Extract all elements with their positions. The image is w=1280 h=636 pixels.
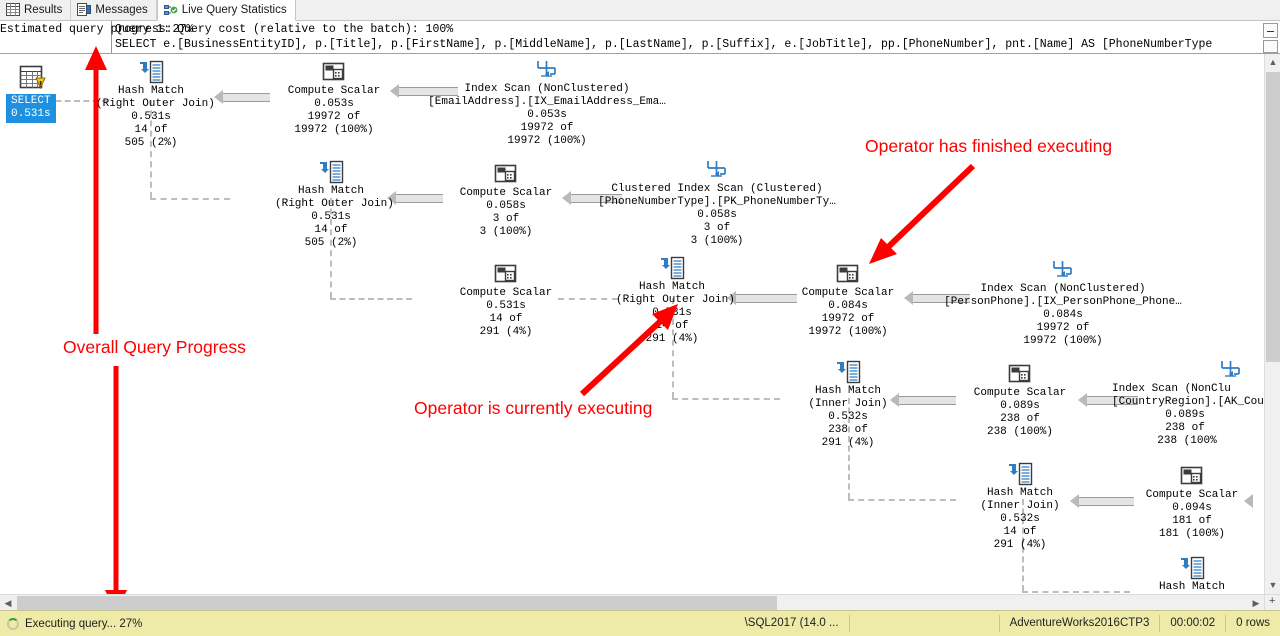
index-scan-icon [1218,358,1244,382]
status-server: \SQL2017 (14.0 ... [735,615,849,632]
compute-scalar-icon [1179,464,1205,488]
canvas-horizontal-scrollbar[interactable]: ◀ ▶ [0,594,1264,610]
plan-node-index-scan-countryregion-lines: Index Scan (NonClu [CountryRegion].[AK_C… [1112,383,1264,448]
node-line: Compute Scalar [450,187,562,200]
annotation-overall-query-progress: Overall Query Progress [63,337,246,358]
tab-results[interactable]: Results [0,0,71,20]
hash-match-icon [659,256,685,280]
node-line: [EmailAddress].[IX_EmailAddress_Ema… [424,96,670,109]
hash-match-icon [138,60,164,84]
query-sql-line: SELECT e.[BusinessEntityID], p.[Title], … [115,37,1262,52]
node-line: 238 (100% [1112,435,1262,448]
scroll-left-icon[interactable]: ◀ [0,595,16,611]
annotation-operator-executing: Operator is currently executing [414,398,652,419]
node-line: 0.053s [278,98,390,111]
status-executing-text: Executing query... 27% [25,618,142,630]
plan-node-hash-match-2[interactable]: Hash Match (Right Outer Join) 0.531s 14 … [275,160,387,250]
plan-node-compute-scalar-4[interactable]: Compute Scalar 0.084s 19972 of 19972 (10… [792,262,904,339]
vertical-scroll-thumb[interactable] [1266,72,1280,362]
node-line: 238 (100%) [964,426,1076,439]
node-line: Hash Match [275,185,387,198]
node-line: Compute Scalar [450,287,562,300]
connector-dashed [1022,591,1130,593]
canvas-vertical-scrollbar[interactable]: ▲ ▼ [1264,54,1280,594]
header-collapse-button[interactable] [1263,23,1278,38]
connector-arrowhead [562,191,571,205]
node-line: 181 (100%) [1136,528,1248,541]
node-line: Index Scan (NonClustered) [938,283,1188,296]
plan-node-hash-match-6-lines: Hash Match [1136,581,1248,594]
plan-node-compute-scalar-1-lines: Compute Scalar 0.053s 19972 of 19972 (10… [278,85,390,137]
executing-spinner-icon [7,618,19,630]
node-line: 19972 (100%) [792,326,904,339]
node-line: Compute Scalar [1136,489,1248,502]
node-line: Hash Match [1136,581,1248,594]
connector-dashed [150,198,230,200]
connector-arrowhead [390,84,399,98]
plan-node-index-scan-email[interactable]: Index Scan (NonClustered) [EmailAddress]… [424,58,670,148]
node-line: 19972 of [792,313,904,326]
node-line: Compute Scalar [964,387,1076,400]
node-line: Compute Scalar [278,85,390,98]
status-executing-group: Executing query... 27% [0,618,142,630]
plan-node-index-scan-personphone-lines: Index Scan (NonClustered) [PersonPhone].… [938,283,1188,348]
index-scan-icon [1050,258,1076,282]
select-node-box[interactable]: SELECT 0.531s [6,94,56,123]
plan-node-clustered-index-scan-phonenumbertype[interactable]: Clustered Index Scan (Clustered) [PhoneN… [594,158,840,248]
node-line: 3 (100%) [594,235,840,248]
select-result-icon [14,64,48,94]
node-line: 3 of [450,213,562,226]
results-tabstrip: Results Messages Live Query St [0,0,1280,21]
connector-arrowhead [214,90,223,104]
tab-messages-label: Messages [95,4,147,16]
node-line: 291 (4%) [792,437,904,450]
node-line: 3 (100%) [450,226,562,239]
connector-solid [735,294,797,303]
plan-node-hash-match-6[interactable]: Hash Match [1136,556,1248,594]
node-line: [CountryRegion].[AK_Cou [1112,396,1264,409]
plan-node-clustered-index-scan-lines: Clustered Index Scan (Clustered) [PhoneN… [594,183,840,248]
index-scan-icon [704,158,730,182]
plan-node-compute-scalar-5[interactable]: Compute Scalar 0.089s 238 of 238 (100%) [964,362,1076,439]
node-line: 238 of [1112,422,1258,435]
plan-node-compute-scalar-5-lines: Compute Scalar 0.089s 238 of 238 (100%) [964,387,1076,439]
annotation-arrow-finished [855,158,985,268]
status-row-count: 0 rows [1225,615,1280,632]
select-node-cost: 0.531s [11,108,51,121]
annotation-arrow-progress-up [80,44,120,334]
plan-node-hash-match-4[interactable]: Hash Match (Inner Join) 0.532s 238 of 29… [792,360,904,450]
node-line: Index Scan (NonClu [1112,383,1264,396]
plan-node-index-scan-email-lines: Index Scan (NonClustered) [EmailAddress]… [424,83,670,148]
plan-node-hash-match-5[interactable]: Hash Match (Inner Join) 0.532s 14 of 291… [964,462,1076,552]
node-line: (Right Outer Join) [275,198,387,211]
plan-node-compute-scalar-2-lines: Compute Scalar 0.058s 3 of 3 (100%) [450,187,562,239]
connector-arrowhead [904,291,913,305]
annotation-operator-finished: Operator has finished executing [865,136,1112,157]
tab-live-query-statistics-label: Live Query Statistics [182,4,287,16]
connector-arrowhead [1078,393,1087,407]
node-line: 0.058s [594,209,840,222]
scrollbar-corner-button[interactable] [1264,594,1280,610]
plan-node-hash-match-2-lines: Hash Match (Right Outer Join) 0.531s 14 … [275,185,387,250]
node-line: [PersonPhone].[IX_PersonPhone_Phone… [938,296,1188,309]
index-scan-icon [534,58,560,82]
scroll-right-icon[interactable]: ▶ [1248,595,1264,611]
hash-match-icon [835,360,861,384]
plan-node-compute-scalar-3-lines: Compute Scalar 0.531s 14 of 291 (4%) [450,287,562,339]
node-line: 0.053s [424,109,670,122]
node-line: Hash Match [964,487,1076,500]
plan-node-compute-scalar-4-lines: Compute Scalar 0.084s 19972 of 19972 (10… [792,287,904,339]
query-cost-and-sql: Query 1: Query cost (relative to the bat… [115,21,1262,53]
node-line: 181 of [1136,515,1248,528]
plan-node-hash-match-4-lines: Hash Match (Inner Join) 0.532s 238 of 29… [792,385,904,450]
node-line: 505 (2%) [275,237,387,250]
query-plan-header: Estimated query progress:27% Query 1: Qu… [0,21,1280,54]
node-line: Compute Scalar [792,287,904,300]
node-line: 14 of [450,313,562,326]
node-line: Hash Match [792,385,904,398]
status-bar: Executing query... 27% \SQL2017 (14.0 ..… [0,610,1280,636]
node-line: 19972 of [424,122,670,135]
query-cost-line: Query 1: Query cost (relative to the bat… [115,22,1262,37]
annotation-arrow-progress-down [100,366,140,616]
header-scroll-button[interactable] [1263,40,1278,53]
plan-node-compute-scalar-6[interactable]: Compute Scalar 0.094s 181 of 181 (100%) [1136,464,1248,541]
node-line: 19972 (100%) [424,135,670,148]
connector-dashed [330,298,412,300]
node-line: 0.084s [938,309,1188,322]
node-line: 238 of [792,424,904,437]
node-line: 238 of [964,413,1076,426]
node-line: 0.089s [964,400,1076,413]
connector-solid [1078,497,1134,506]
compute-scalar-icon [1007,362,1033,386]
connector-dashed [848,499,956,501]
plan-node-compute-scalar-1[interactable]: Compute Scalar 0.053s 19972 of 19972 (10… [278,60,390,137]
node-line: 0.094s [1136,502,1248,515]
status-elapsed-time: 00:00:02 [1159,615,1225,632]
node-line: Index Scan (NonClustered) [424,83,670,96]
node-line: 0.531s [275,211,387,224]
tab-live-query-statistics[interactable]: Live Query Statistics [157,0,296,21]
node-line: (Inner Join) [792,398,904,411]
plan-node-index-scan-personphone[interactable]: Index Scan (NonClustered) [PersonPhone].… [938,258,1188,348]
message-page-icon [77,3,91,16]
node-line: 0.089s [1112,409,1258,422]
hash-match-icon [318,160,344,184]
node-line: 19972 of [278,111,390,124]
grid-icon [6,3,20,16]
scroll-up-icon[interactable]: ▲ [1265,54,1280,71]
connector-solid [395,194,443,203]
annotation-arrow-executing [560,300,690,400]
plan-node-compute-scalar-6-lines: Compute Scalar 0.094s 181 of 181 (100%) [1136,489,1248,541]
node-line: 19972 (100%) [278,124,390,137]
plan-node-hash-match-5-lines: Hash Match (Inner Join) 0.532s 14 of 291… [964,487,1076,552]
plan-node-index-scan-countryregion[interactable]: Index Scan (NonClu [CountryRegion].[AK_C… [1112,358,1264,448]
node-line: 19972 of [938,322,1188,335]
node-line: 3 of [594,222,840,235]
compute-scalar-icon [321,60,347,84]
live-query-stats-icon [164,4,178,17]
node-line: [PhoneNumberType].[PK_PhoneNumberTy… [594,196,840,209]
tab-messages[interactable]: Messages [71,0,156,20]
compute-scalar-icon [493,162,519,186]
node-line: 0.058s [450,200,562,213]
plan-node-select[interactable]: SELECT 0.531s [6,64,56,123]
compute-scalar-icon [493,262,519,286]
connector-solid [898,396,956,405]
node-line: (Inner Join) [964,500,1076,513]
horizontal-scroll-thumb[interactable] [17,596,777,610]
node-line: 291 (4%) [450,326,562,339]
status-database: AdventureWorks2016CTP3 [999,615,1160,632]
node-line: 0.531s [450,300,562,313]
node-line: 14 of [964,526,1076,539]
plan-node-compute-scalar-3[interactable]: Compute Scalar 0.531s 14 of 291 (4%) [450,262,562,339]
live-query-statistics-window: Results Messages Live Query St [0,0,1280,636]
node-line: Clustered Index Scan (Clustered) [594,183,840,196]
status-user-spacer [849,615,999,632]
node-line: 0.532s [792,411,904,424]
node-line: 0.532s [964,513,1076,526]
status-right-group: \SQL2017 (14.0 ... AdventureWorks2016CTP… [735,611,1280,636]
node-line: 14 of [275,224,387,237]
hash-match-icon [1007,462,1033,486]
estimated-progress-line1: Estimated query [0,23,104,36]
hash-match-icon [1179,556,1205,580]
scroll-down-icon[interactable]: ▼ [1265,577,1280,594]
select-node-label: SELECT [11,95,51,108]
node-line: 0.084s [792,300,904,313]
connector-solid [222,93,270,102]
plan-node-compute-scalar-2[interactable]: Compute Scalar 0.058s 3 of 3 (100%) [450,162,562,239]
tab-results-label: Results [24,4,62,16]
node-line: Hash Match [616,281,728,294]
node-line: 291 (4%) [964,539,1076,552]
node-line: 19972 (100%) [938,335,1188,348]
